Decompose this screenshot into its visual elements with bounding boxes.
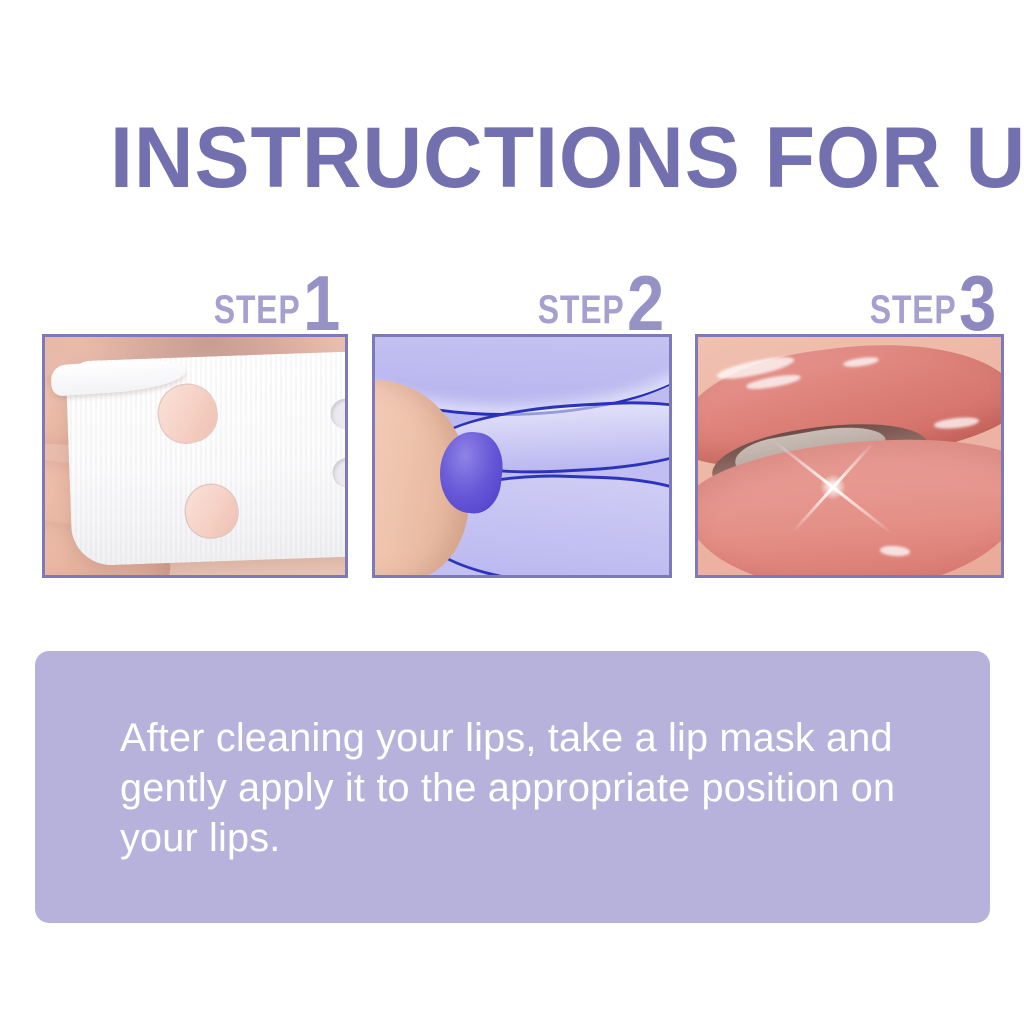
step-block-3: STEP 3 [695, 262, 1004, 582]
step-block-2: STEP 2 [372, 262, 672, 582]
cotton-pad-notch [332, 458, 348, 489]
hand-holding-cotton-pad-image [45, 337, 345, 575]
step-number-3: 3 [959, 273, 996, 334]
step-block-1: STEP 1 [42, 262, 348, 582]
fingernail-shape [372, 444, 376, 508]
step-photo-frame-3 [695, 334, 1004, 578]
glossy-lips-closeup-image [698, 337, 1001, 575]
steps-row: STEP 1 STEP 2 [42, 262, 1004, 582]
step-caption-1: STEP 1 [192, 262, 346, 334]
step-number-1: 1 [303, 273, 340, 334]
sparkle-icon [831, 485, 835, 489]
step-label-1: STEP [214, 291, 301, 329]
step-caption-2: STEP 2 [516, 262, 670, 334]
step-photo-frame-1 [42, 334, 348, 578]
sparkle-core [820, 474, 846, 500]
page-title: INSTRUCTIONS FOR USE [110, 112, 888, 204]
fingers-peeling-gel-lip-mask-image [375, 337, 669, 575]
step-label-3: STEP [870, 291, 957, 329]
description-panel: After cleaning your lips, take a lip mas… [35, 651, 990, 923]
step-number-2: 2 [627, 273, 664, 334]
step-label-2: STEP [538, 291, 625, 329]
step-photo-frame-2 [372, 334, 672, 578]
cotton-pad-notch [330, 398, 348, 429]
description-text: After cleaning your lips, take a lip mas… [120, 713, 922, 863]
step-caption-3: STEP 3 [848, 262, 1002, 334]
